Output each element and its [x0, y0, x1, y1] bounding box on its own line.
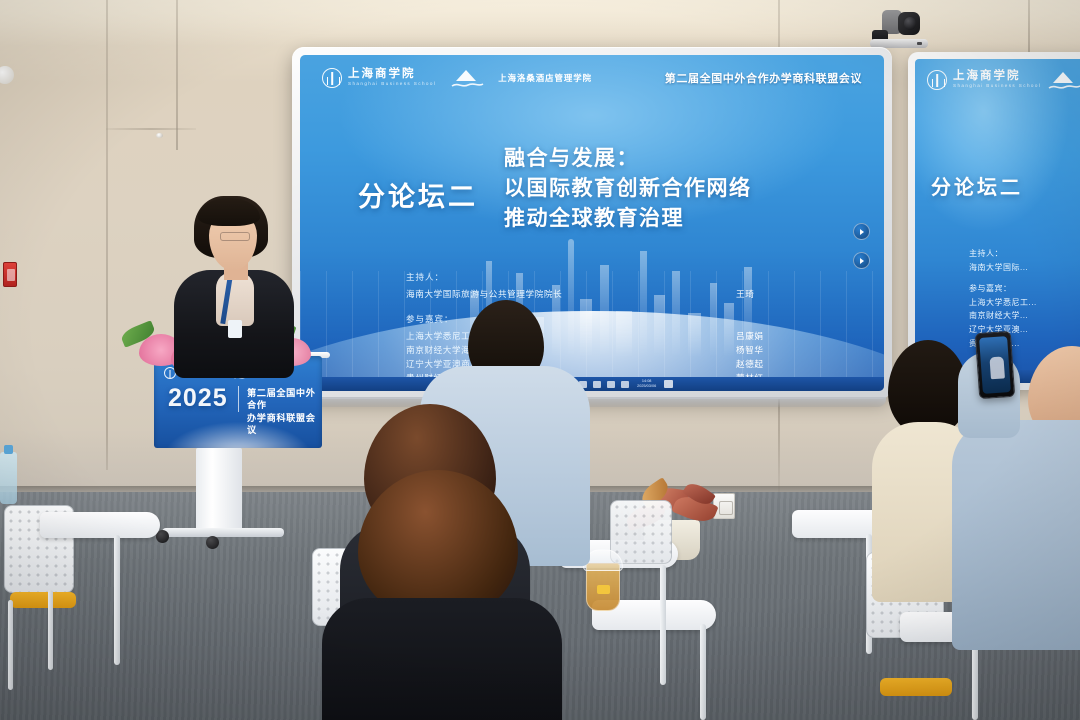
ptz-conference-camera	[868, 6, 928, 50]
podium-event-name: 第二届全国中外合作 办学商科联盟会议	[247, 387, 322, 437]
podium-year: 2025	[168, 386, 228, 411]
speaker-glasses-icon	[220, 232, 250, 241]
wall-panel-seam	[106, 128, 196, 130]
podium-caster	[206, 536, 219, 549]
tablet-arm-desk[interactable]	[40, 512, 160, 538]
host-name: 王琦	[736, 288, 754, 302]
taskbar-clock[interactable]: 14:08 2025/03/06	[637, 379, 656, 388]
school-emblem-icon	[927, 70, 947, 90]
forum-title-block: 融合与发展： 以国际教育创新合作网络 推动全球教育治理	[504, 147, 752, 230]
audience-person-foreground-2	[322, 470, 562, 720]
guest-name: 杨智华	[736, 344, 764, 358]
guest-name: 赵德起	[736, 358, 764, 372]
logo-text-cn: 上海商学院	[953, 71, 1041, 83]
slide-title-row: 分论坛二 融合与发展： 以国际教育创新合作网络 推动全球教育治理	[358, 147, 752, 230]
logo-shanghai-business-school: 上海商学院 Shanghai Business School	[322, 68, 436, 88]
forum-title-line-1: 融合与发展：	[504, 147, 752, 170]
forum-number-label: 分论坛二	[358, 184, 478, 211]
desk-leg	[114, 535, 120, 665]
podium-column	[196, 448, 242, 536]
side-guest-org: 上海大学悉尼工...	[969, 296, 1037, 310]
podium-base	[162, 528, 284, 537]
chair-leg	[48, 590, 53, 670]
wall-panel-seam	[1028, 0, 1030, 60]
presentation-slide: 上海商学院 Shanghai Business School 上海洛桑酒店管理学…	[300, 55, 884, 391]
wave-mountain-icon	[450, 67, 484, 89]
desk-leg	[972, 640, 978, 720]
slide-header: 上海商学院 Shanghai Business School 上海洛桑酒店管理学…	[300, 55, 884, 101]
audience-person-photographer	[952, 346, 1080, 646]
desk-leg	[660, 565, 666, 685]
logo-text-cn: 上海商学院	[348, 69, 436, 81]
forum-title-line-2: 以国际教育创新合作网络	[504, 177, 752, 200]
speaker-badge	[228, 320, 242, 338]
smartphone-camera[interactable]	[975, 331, 1016, 399]
logo-text-en: Shanghai Business School	[348, 80, 436, 87]
screen-nav-button-2[interactable]	[853, 252, 870, 269]
screen-side-buttons[interactable]	[853, 223, 870, 269]
side-guest-org: 南京财经大学...	[969, 309, 1037, 323]
forum-title-line-3: 推动全球教育治理	[504, 207, 752, 230]
speaker-person	[168, 196, 298, 376]
side-host-label: 主持人：	[969, 247, 1037, 261]
phone-preview-figure	[989, 356, 1005, 379]
main-wall-display[interactable]: 上海商学院 Shanghai Business School 上海洛桑酒店管理学…	[292, 47, 892, 399]
display-taskbar[interactable]: 17% CPU使用率 14:08 2025/03/06	[300, 377, 884, 391]
side-slide-header: 上海商学院 Shanghai Business School	[927, 69, 1080, 91]
host-label: 主持人：	[406, 271, 826, 283]
logo-partner-label: 上海洛桑酒店管理学院	[498, 72, 592, 84]
chair-seat[interactable]	[10, 592, 76, 608]
window-icon[interactable]	[621, 381, 629, 388]
side-host-org: 海南大学国际...	[969, 261, 1037, 275]
water-bottle[interactable]	[0, 452, 17, 504]
cup-sticker-icon	[597, 585, 610, 594]
apps-icon[interactable]	[664, 380, 673, 388]
side-guests-label: 参与嘉宾：	[969, 282, 1037, 296]
desk-leg	[700, 624, 706, 720]
wave-mountain-icon	[1047, 69, 1080, 91]
wall-screw	[156, 133, 163, 138]
podium-event-line-2: 办学商科联盟会议	[247, 412, 322, 437]
fire-alarm-box[interactable]	[3, 262, 17, 287]
smoke-detector	[0, 66, 14, 84]
person-torso	[322, 598, 562, 720]
school-emblem-icon	[322, 68, 342, 88]
conference-room-scene: 上海商学院 Shanghai Business School 上海洛桑酒店管理学…	[0, 0, 1080, 720]
podium-event-line-1: 第二届全国中外合作	[247, 387, 322, 412]
phone-screen	[979, 336, 1011, 394]
chair-seat[interactable]	[880, 678, 952, 696]
keyboard-icon[interactable]	[607, 381, 615, 388]
wall-panel-seam	[106, 0, 108, 470]
person-torso	[952, 420, 1080, 650]
camera-lens-icon	[904, 17, 916, 30]
logo-text-en: Shanghai Business School	[953, 82, 1041, 89]
chair-leg	[8, 600, 13, 690]
pen-icon[interactable]	[593, 381, 601, 388]
clock-date: 2025/03/06	[637, 384, 656, 389]
guest-name: 吕康娟	[736, 330, 764, 344]
podium-divider	[238, 386, 239, 412]
screen-nav-button-1[interactable]	[853, 223, 870, 240]
event-title: 第二届全国中外合作办学商科联盟会议	[665, 70, 862, 86]
side-forum-number-label: 分论坛二	[931, 171, 1023, 200]
